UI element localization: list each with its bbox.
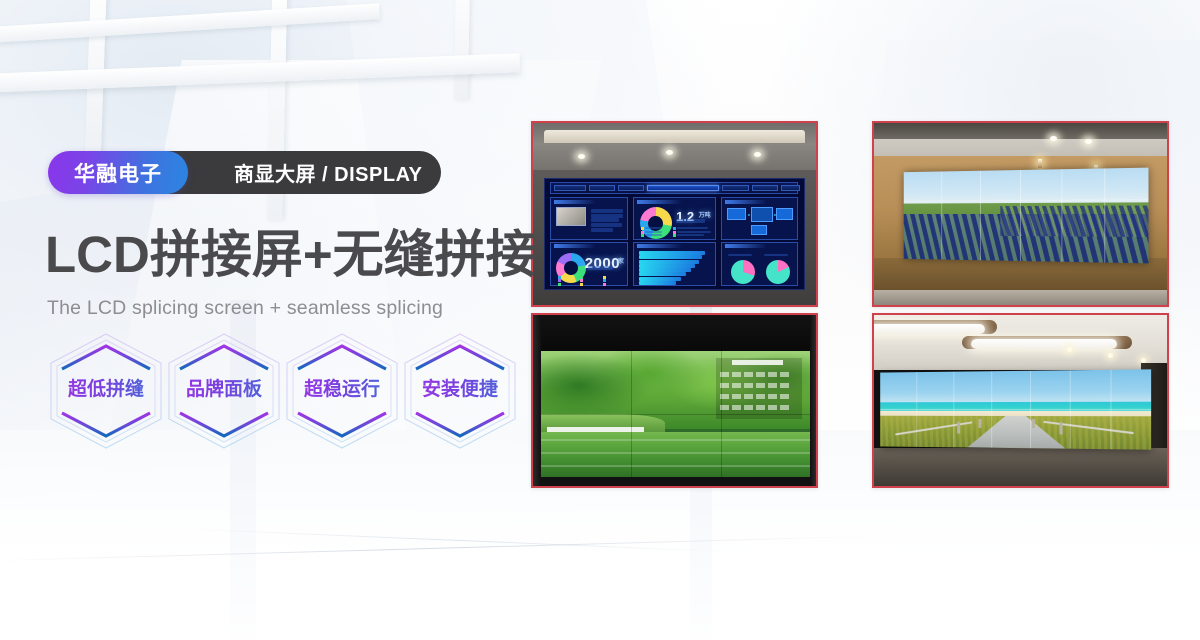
calendar-cell bbox=[780, 405, 789, 410]
floor bbox=[874, 448, 1167, 486]
dashboard-kpi-unit: 家 bbox=[618, 256, 624, 265]
screen-calendar-widget bbox=[716, 358, 802, 419]
legend-label bbox=[677, 231, 711, 233]
legend-label bbox=[645, 234, 663, 236]
feature-label-3: 超稳运行 bbox=[284, 374, 400, 401]
ranking-bar bbox=[639, 272, 686, 276]
pie-chart bbox=[731, 260, 755, 284]
lcd-video-wall: 1.2 万吨 bbox=[544, 178, 804, 291]
calendar-cell bbox=[780, 394, 789, 399]
feature-item-1: 超低拼缝 bbox=[48, 332, 164, 450]
pie-legend bbox=[764, 254, 788, 256]
legend-dot bbox=[603, 283, 606, 286]
dashboard-title-tab bbox=[647, 185, 719, 191]
screen-rail-post bbox=[1032, 419, 1035, 428]
dashboard-tab bbox=[722, 185, 748, 191]
dashboard-panel-ranking bbox=[633, 242, 716, 286]
screen-left-frame bbox=[533, 315, 541, 486]
calendar-cell bbox=[732, 372, 741, 377]
dashboard-tab bbox=[618, 185, 644, 191]
calendar-cell bbox=[732, 394, 741, 399]
panel-header bbox=[637, 244, 681, 248]
screen-right-frame bbox=[810, 315, 816, 486]
panel-text-line bbox=[676, 219, 705, 223]
feature-item-3: 超稳运行 bbox=[284, 332, 400, 450]
flow-connector bbox=[748, 214, 750, 216]
page-subtitle: The LCD splicing screen + seamless splic… bbox=[47, 297, 443, 320]
feature-label-1: 超低拼缝 bbox=[48, 374, 164, 401]
ranking-bar bbox=[639, 281, 676, 285]
flow-node bbox=[751, 207, 774, 222]
dashboard-tab bbox=[781, 185, 800, 191]
flow-node bbox=[751, 225, 768, 235]
legend-label bbox=[677, 227, 708, 229]
panel-text-line bbox=[591, 209, 623, 213]
screen-rail-post bbox=[978, 419, 981, 428]
water-reflection-line bbox=[541, 439, 810, 441]
feature-item-2: 品牌面板 bbox=[166, 332, 282, 450]
product-photo-beach[interactable] bbox=[872, 313, 1169, 488]
dashboard-panel-intro bbox=[550, 197, 628, 239]
pie-chart bbox=[766, 260, 790, 284]
legend-dot bbox=[641, 234, 644, 237]
dashboard-kpi-unit: 万吨 bbox=[699, 210, 711, 219]
dashboard-panel-flow bbox=[721, 197, 799, 239]
photo-dashboard-image: 1.2 万吨 bbox=[533, 123, 816, 305]
brand-badge: 华融电子 bbox=[48, 151, 188, 194]
pie-legend bbox=[728, 254, 752, 256]
calendar-cell bbox=[768, 383, 777, 388]
ceiling-spotlight bbox=[1050, 136, 1057, 141]
panel-header bbox=[725, 244, 767, 248]
flow-node bbox=[776, 208, 793, 220]
panel-header bbox=[554, 244, 596, 248]
calendar-cell bbox=[744, 394, 753, 399]
background-beam-horizontal-2 bbox=[0, 53, 520, 93]
photo-solar-image bbox=[874, 123, 1167, 305]
calendar-cell bbox=[744, 383, 753, 388]
calendar-cell bbox=[768, 405, 777, 410]
background-facet-1 bbox=[0, 139, 400, 521]
feature-label-4: 安装便捷 bbox=[402, 374, 518, 401]
legend-label bbox=[645, 231, 663, 233]
flow-node bbox=[727, 208, 747, 220]
panel-seam-horizontal bbox=[541, 414, 810, 415]
panel-text-line bbox=[591, 218, 620, 222]
panel-text-line bbox=[591, 228, 614, 232]
floor bbox=[874, 290, 1167, 305]
ceiling-cove-light bbox=[874, 324, 985, 334]
ceiling-spotlight bbox=[754, 152, 761, 157]
legend-dot bbox=[580, 283, 583, 286]
calendar-cell bbox=[756, 405, 765, 410]
legend-label bbox=[645, 227, 663, 229]
water-reflection-line bbox=[541, 452, 810, 454]
panel-header bbox=[637, 200, 681, 204]
legend-dot bbox=[558, 283, 561, 286]
panel-thumbnail bbox=[556, 207, 586, 226]
product-photo-dashboard[interactable]: 1.2 万吨 bbox=[531, 121, 818, 307]
dashboard-tab bbox=[554, 185, 585, 191]
panel-text-line bbox=[591, 223, 622, 227]
calendar-cell bbox=[756, 394, 765, 399]
lcd-video-wall bbox=[541, 351, 810, 478]
calendar-title bbox=[732, 360, 784, 365]
lcd-video-wall bbox=[904, 168, 1149, 264]
dashboard-tab bbox=[752, 185, 778, 191]
screen-top-bezel bbox=[533, 315, 816, 351]
ceiling-cove-light bbox=[544, 130, 804, 143]
feature-list: 超低拼缝 品牌面板 超稳运行 bbox=[48, 332, 528, 450]
water-reflection-line bbox=[541, 465, 810, 467]
photo-beach-image bbox=[874, 315, 1167, 486]
calendar-cell bbox=[756, 383, 765, 388]
panel-header bbox=[725, 200, 767, 204]
photo-garden-image bbox=[533, 315, 816, 486]
lcd-video-wall bbox=[880, 370, 1151, 450]
product-photo-solar[interactable] bbox=[872, 121, 1169, 307]
dashboard-panel-pies bbox=[721, 242, 799, 286]
legend-label bbox=[677, 234, 704, 236]
calendar-cell bbox=[768, 394, 777, 399]
brand-badge-group: 商显大屏 / DISPLAY 华融电子 bbox=[48, 151, 188, 194]
ceiling-cove-light bbox=[971, 339, 1118, 349]
category-badge: 商显大屏 / DISPLAY bbox=[148, 151, 441, 194]
dashboard-panel-donut-count: 2000 家 bbox=[550, 242, 628, 286]
calendar-cell bbox=[744, 372, 753, 377]
background-hairline-2 bbox=[180, 528, 740, 552]
product-banner: 商显大屏 / DISPLAY 华融电子 LCD拼接屏+无缝拼接 The LCD … bbox=[0, 0, 1200, 640]
background-beam-vertical-1 bbox=[85, 0, 108, 160]
dashboard-navbar bbox=[550, 182, 798, 194]
calendar-cell bbox=[744, 405, 753, 410]
background-beam-vertical-3 bbox=[454, 0, 470, 100]
feature-item-4: 安装便捷 bbox=[402, 332, 518, 450]
calendar-cell bbox=[780, 372, 789, 377]
product-photo-garden[interactable] bbox=[531, 313, 818, 488]
ceiling-band bbox=[874, 123, 1167, 139]
screen-rail-post bbox=[1060, 422, 1063, 435]
dashboard-tab bbox=[589, 185, 615, 191]
screen-rail-post bbox=[957, 422, 960, 434]
panel-header bbox=[554, 200, 596, 204]
ranking-bar bbox=[639, 255, 702, 259]
background-beam-horizontal-1 bbox=[0, 3, 380, 45]
dashboard-panel-donut-stat: 1.2 万吨 bbox=[633, 197, 716, 239]
background-hairline-1 bbox=[0, 535, 880, 561]
calendar-cell bbox=[756, 372, 765, 377]
panel-text-line bbox=[588, 266, 614, 270]
wall-lamp bbox=[1038, 159, 1042, 168]
calendar-cell bbox=[732, 383, 741, 388]
calendar-cell bbox=[780, 383, 789, 388]
panel-text-line bbox=[591, 214, 623, 218]
page-title: LCD拼接屏+无缝拼接 bbox=[45, 228, 537, 282]
screen-solar-panels-far bbox=[1001, 206, 1149, 237]
calendar-cell bbox=[732, 405, 741, 410]
feature-label-2: 品牌面板 bbox=[166, 374, 282, 401]
calendar-cell bbox=[768, 372, 777, 377]
legend-dot bbox=[673, 234, 676, 237]
